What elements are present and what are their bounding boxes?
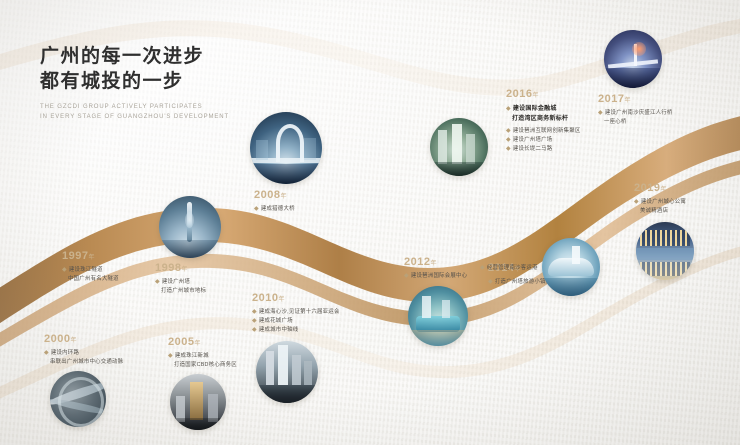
node-1997[interactable]: 1997年 ◆建设珠江隧道 中国广州有名大隧道 <box>62 250 119 284</box>
node-2017-year: 2017年 <box>598 93 673 107</box>
bullet: 打造广州城市地标 <box>155 287 221 296</box>
node-2005-year: 2005年 <box>168 336 237 350</box>
bullet: ◆建成珠江新城 <box>168 352 237 361</box>
bullet: ◆建设琶洲互联网创新集聚区 <box>506 127 656 136</box>
bullet: ◆建成海心沙,见证第十六届亚运会 <box>252 308 340 317</box>
poster-canvas: 广州的每一次进步 都有城投的一步 THE GZCDI GROUP ACTIVEL… <box>0 0 740 445</box>
node-2008[interactable]: 2008年 ◆建成猎德大桥 <box>246 112 322 214</box>
bullet: ◆建成猎德大桥 <box>254 205 322 214</box>
node-2008-year: 2008年 <box>254 189 322 203</box>
node-2012[interactable]: 2012年 ◆建设琶洲国际会展中心 <box>404 256 468 346</box>
node-2000[interactable]: 2000年 ◆建设内环路 串联出广州城市中心交通动脉 <box>44 333 123 427</box>
node-2010[interactable]: 2010年 ◆建成海心沙,见证第十六届亚运会 ◆建成花城广场 ◆建成城市中轴线 <box>252 292 340 403</box>
node-2015-bullets: ◆经营管理南沙客运港 <box>480 264 538 273</box>
bullet: 一座心桥 <box>598 118 673 127</box>
photo-pazhou-convention-center[interactable] <box>408 286 468 346</box>
bullet: ◆建设琶洲国际会展中心 <box>404 272 468 281</box>
bullet: ◆建设长堤二马路 <box>506 145 656 154</box>
photo-international-finance-city[interactable] <box>430 118 488 176</box>
node-2017[interactable]: 2017年 ◆建设广州南沙庆盛江人行桥 一座心桥 <box>598 30 673 127</box>
node-1997-year: 1997年 <box>62 250 119 264</box>
headline-subtitle-2: IN EVERY STAGE OF GUANGZHOU'S DEVELOPMEN… <box>40 113 229 123</box>
node-2005[interactable]: 2005年 ◆建成珠江新城 打造国家CBD核心商务区 <box>168 336 237 430</box>
bullet: ◆建设内环路 <box>44 349 123 358</box>
bullet: ◆建设珠江隧道 <box>62 266 119 275</box>
node-2005-bullets: ◆建成珠江新城 打造国家CBD核心商务区 <box>168 352 237 370</box>
photo-zhujiang-new-town[interactable] <box>170 374 226 430</box>
headline-subtitle-1: THE GZCDI GROUP ACTIVELY PARTICIPATES <box>40 103 229 113</box>
bullet: 美诚精酒店 <box>634 207 694 216</box>
bullet: 串联出广州城市中心交通动脉 <box>44 358 123 367</box>
photo-inner-ring-road[interactable] <box>50 371 106 427</box>
photo-haixinsha-asian-games[interactable] <box>256 341 318 403</box>
headline-line-1: 广州的每一次进步 <box>40 44 229 69</box>
node-1998[interactable]: 1998年 ◆建设广州塔 打造广州城市地标 <box>155 196 221 296</box>
photo-nansha-port[interactable] <box>542 238 600 296</box>
node-2000-year: 2000年 <box>44 333 123 347</box>
bullet: 中国广州有名大隧道 <box>62 275 119 284</box>
node-2008-bullets: ◆建成猎德大桥 <box>254 205 322 214</box>
photo-canton-tower[interactable] <box>159 196 221 258</box>
bullet: ◆建成城市中轴线 <box>252 326 340 335</box>
node-2010-year: 2010年 <box>252 292 340 306</box>
node-1998-year: 1998年 <box>155 262 221 276</box>
bullet: ◆建设广州城心公寓 <box>634 198 694 207</box>
node-2019-bullets: ◆建设广州城心公寓 美诚精酒店 <box>634 198 694 216</box>
node-2019[interactable]: 2019年 ◆建设广州城心公寓 美诚精酒店 <box>634 182 694 280</box>
node-2012-year: 2012年 <box>404 256 468 270</box>
bullet: ◆建设广州南沙庆盛江人行桥 <box>598 109 673 118</box>
bullet: 打造国家CBD核心商务区 <box>168 361 237 370</box>
node-2012-bullets: ◆建设琶洲国际会展中心 <box>404 272 468 281</box>
node-1997-bullets: ◆建设珠江隧道 中国广州有名大隧道 <box>62 266 119 284</box>
photo-city-apartments[interactable] <box>636 222 694 280</box>
headline-line-2: 都有城投的一步 <box>40 69 229 94</box>
node-2010-bullets: ◆建成海心沙,见证第十六届亚运会 ◆建成花城广场 ◆建成城市中轴线 <box>252 308 340 335</box>
bullet: ◆建设广州塔广场 <box>506 136 656 145</box>
photo-pedestrian-bridge[interactable] <box>604 30 662 88</box>
node-1998-bullets: ◆建设广州塔 打造广州城市地标 <box>155 278 221 296</box>
photo-liede-bridge[interactable] <box>250 112 322 184</box>
node-2019-year: 2019年 <box>634 182 694 196</box>
bullet: ◆建设广州塔 <box>155 278 221 287</box>
bullet: ◆经营管理南沙客运港 <box>480 264 538 273</box>
headline-block: 广州的每一次进步 都有城投的一步 THE GZCDI GROUP ACTIVEL… <box>40 44 229 122</box>
node-2017-bullets: ◆建设广州南沙庆盛江人行桥 一座心桥 <box>598 109 673 127</box>
node-2000-bullets: ◆建设内环路 串联出广州城市中心交通动脉 <box>44 349 123 367</box>
bullet: ◆建成花城广场 <box>252 317 340 326</box>
node-2015[interactable]: ◆经营管理南沙客运港 <box>542 238 600 296</box>
